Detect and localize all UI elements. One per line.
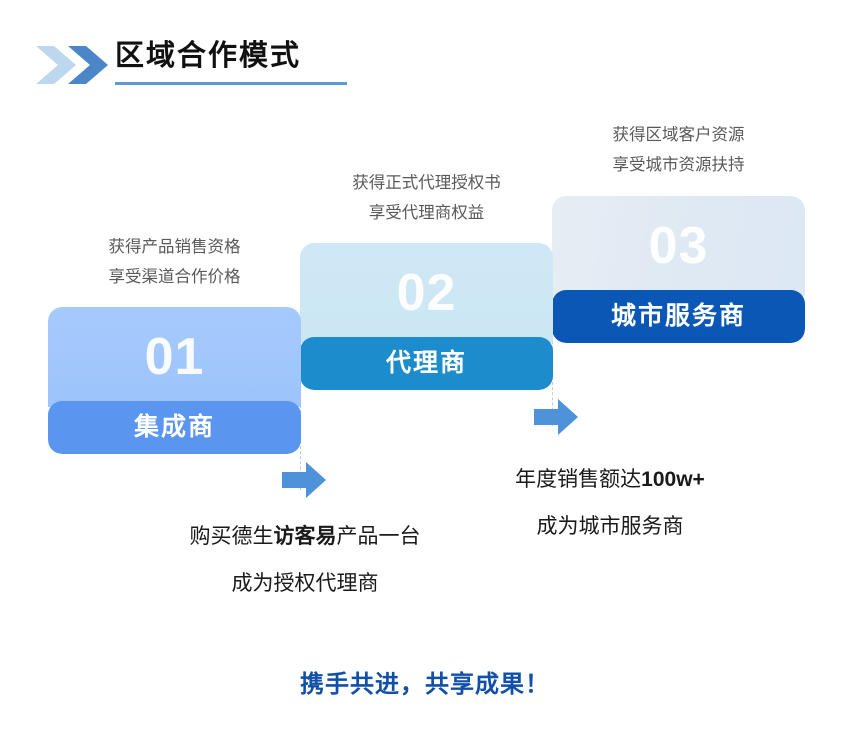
footer-slogan: 携手共进，共享成果！ xyxy=(0,670,850,700)
transition-2-prefix: 年度销售额达 xyxy=(515,468,641,491)
step-caption-3: 获得区域客户资源 享受城市资源扶持 xyxy=(552,120,805,180)
step-caption-2-line-1: 获得正式代理授权书 xyxy=(300,168,553,198)
transition-1-suffix: 产品一台 xyxy=(337,525,421,548)
step-caption-2: 获得正式代理授权书 享受代理商权益 xyxy=(300,168,553,228)
transition-text-1-line-2: 成为授权代理商 xyxy=(135,560,475,607)
arrow-right-icon-2 xyxy=(534,398,578,436)
step-label-2: 代理商 xyxy=(386,351,467,376)
step-card-integrator[interactable]: 01 集成商 xyxy=(48,307,301,454)
transition-2-emphasis: 100w+ xyxy=(641,468,705,491)
step-card-city-service-provider[interactable]: 03 城市服务商 xyxy=(552,196,805,343)
transition-1-emphasis: 访客易 xyxy=(274,525,337,548)
step-card-1-body: 01 xyxy=(48,307,301,407)
step-label-1: 集成商 xyxy=(134,415,215,440)
step-card-1-band: 集成商 xyxy=(48,401,301,454)
transition-text-2: 年度销售额达100w+ 成为城市服务商 xyxy=(420,456,800,550)
step-caption-1: 获得产品销售资格 享受渠道合作价格 xyxy=(48,232,301,292)
transition-1-prefix: 购买德生 xyxy=(190,525,274,548)
step-caption-3-line-2: 享受城市资源扶持 xyxy=(552,150,805,180)
transition-text-2-line-2: 成为城市服务商 xyxy=(420,503,800,550)
step-caption-1-line-2: 享受渠道合作价格 xyxy=(48,262,301,292)
step-card-3-band: 城市服务商 xyxy=(552,290,805,343)
step-card-agent[interactable]: 02 代理商 xyxy=(300,243,553,390)
step-card-3-body: 03 xyxy=(552,196,805,296)
step-card-2-body: 02 xyxy=(300,243,553,343)
step-label-3: 城市服务商 xyxy=(611,304,746,329)
arrow-right-icon-1 xyxy=(282,461,326,499)
step-card-2-band: 代理商 xyxy=(300,337,553,390)
step-caption-3-line-1: 获得区域客户资源 xyxy=(552,120,805,150)
step-caption-1-line-1: 获得产品销售资格 xyxy=(48,232,301,262)
step-caption-2-line-2: 享受代理商权益 xyxy=(300,198,553,228)
step-number-2: 02 xyxy=(300,267,553,319)
partnership-tier-diagram: 获得产品销售资格 享受渠道合作价格 获得正式代理授权书 享受代理商权益 获得区域… xyxy=(0,0,850,737)
step-number-3: 03 xyxy=(552,220,805,272)
transition-text-2-line-1: 年度销售额达100w+ xyxy=(420,456,800,503)
step-number-1: 01 xyxy=(48,331,301,383)
